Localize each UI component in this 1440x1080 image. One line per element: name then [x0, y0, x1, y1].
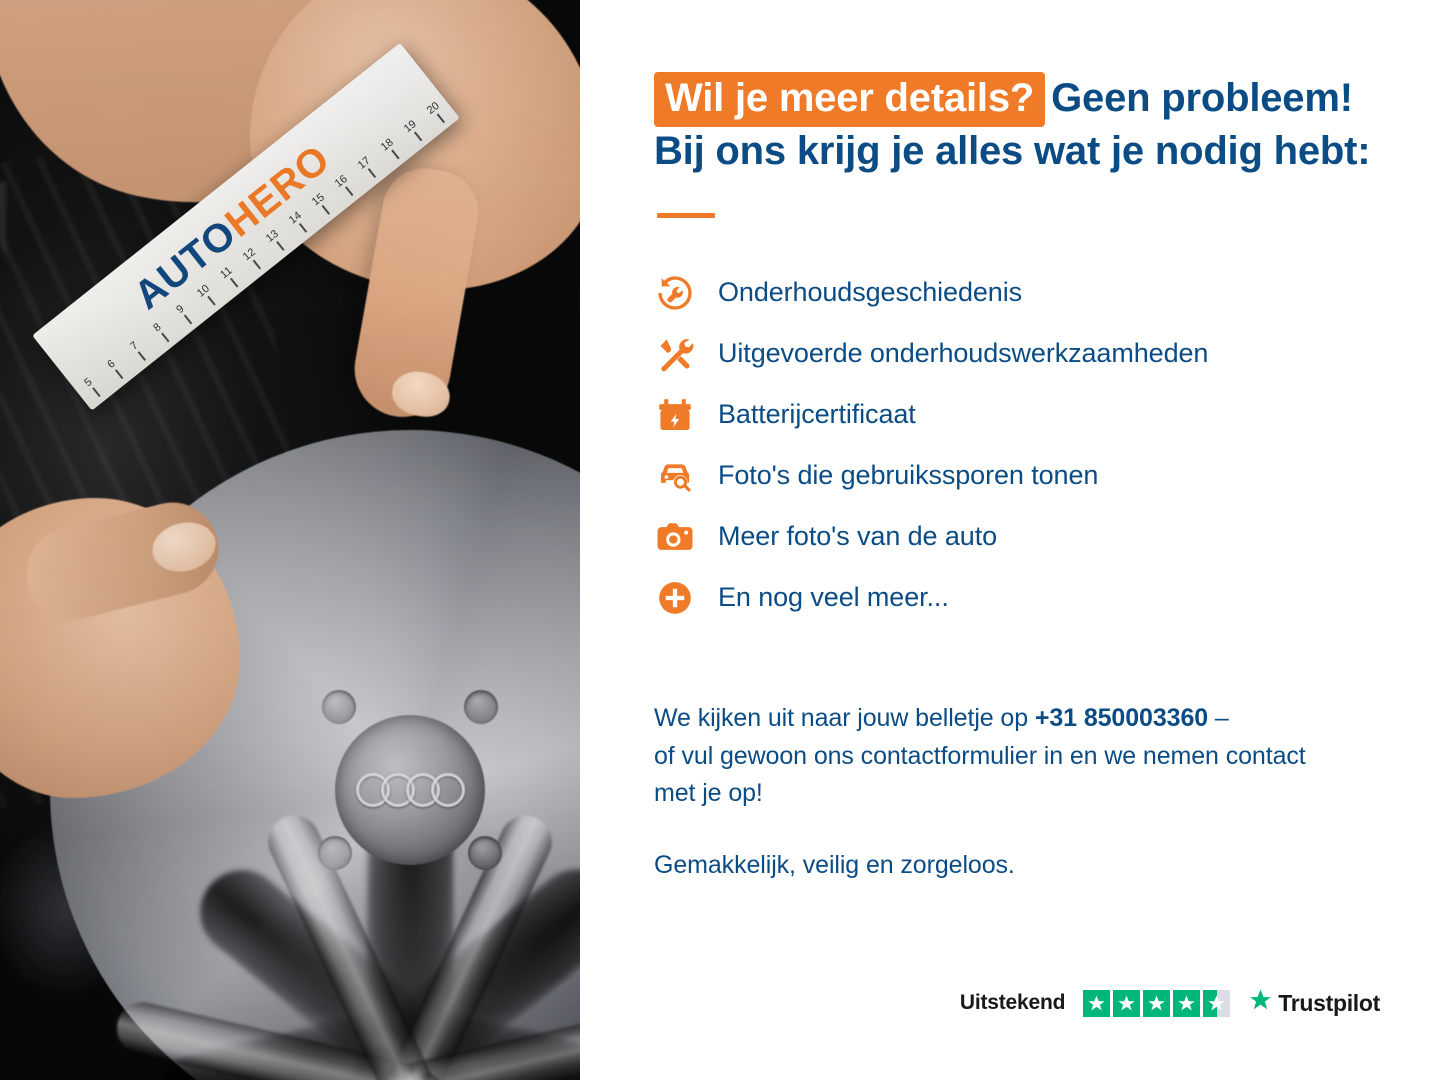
feature-item: Onderhoudsgeschiedenis	[654, 262, 1380, 323]
feature-list: Onderhoudsgeschiedenis Uitgevoerde onder…	[654, 262, 1380, 628]
feature-label: Onderhoudsgeschiedenis	[718, 277, 1022, 308]
page-title: Wil je meer details?Geen probleem! Bij o…	[654, 72, 1380, 175]
star-half	[1203, 990, 1230, 1017]
trustpilot-logo[interactable]: Trustpilot	[1248, 988, 1380, 1018]
contact-copy: We kijken uit naar jouw belletje op +31 …	[654, 700, 1380, 884]
battery-icon	[654, 394, 696, 436]
feature-label: Batterijcertificaat	[718, 399, 916, 430]
contact-line1-after: –	[1208, 704, 1229, 732]
tools-icon	[654, 333, 696, 375]
headline-highlight: Wil je meer details?	[654, 72, 1045, 127]
trust-stars	[1083, 990, 1230, 1017]
star-full	[1113, 990, 1140, 1017]
feature-label: Foto's die gebruikssporen tonen	[718, 460, 1098, 491]
content-panel: Wil je meer details?Geen probleem! Bij o…	[580, 0, 1440, 1080]
plus-circle-icon	[654, 577, 696, 619]
star-full	[1083, 990, 1110, 1017]
trustpilot-star-icon	[1248, 988, 1273, 1018]
maintenance-history-icon	[654, 272, 696, 314]
star-full	[1173, 990, 1200, 1017]
feature-label: Meer foto's van de auto	[718, 521, 997, 552]
contact-line3: met je op!	[654, 779, 763, 807]
feature-item: En nog veel meer...	[654, 567, 1380, 628]
trust-rating-word: Uitstekend	[960, 991, 1065, 1015]
reassurance-line: Gemakkelijk, veilig en zorgeloos.	[654, 847, 1380, 885]
feature-item: Foto's die gebruikssporen tonen	[654, 445, 1380, 506]
orange-divider	[657, 213, 715, 218]
feature-item: Batterijcertificaat	[654, 384, 1380, 445]
trustpilot-rating[interactable]: Uitstekend Trustpilot	[960, 988, 1380, 1018]
contact-line2: of vul gewoon ons contactformulier in en…	[654, 742, 1306, 770]
feature-item: Meer foto's van de auto	[654, 506, 1380, 567]
feature-label: En nog veel meer...	[718, 582, 949, 613]
headline-line2: Bij ons krijg je alles wat je nodig hebt…	[654, 129, 1370, 173]
car-inspection-icon	[654, 455, 696, 497]
star-full	[1143, 990, 1170, 1017]
feature-item: Uitgevoerde onderhoudswerkzaamheden	[654, 323, 1380, 384]
trustpilot-wordmark: Trustpilot	[1278, 990, 1380, 1017]
hero-photo: AUTOHERO 567891011121314151617181920	[0, 0, 580, 1080]
audi-rings-emblem	[352, 773, 468, 807]
camera-icon	[654, 516, 696, 558]
phone-number[interactable]: +31 850003360	[1035, 704, 1208, 732]
wheel-hub-cap	[335, 715, 485, 865]
feature-label: Uitgevoerde onderhoudswerkzaamheden	[718, 338, 1208, 369]
contact-line1-before: We kijken uit naar jouw belletje op	[654, 704, 1035, 732]
headline-rest: Geen probleem!	[1051, 76, 1353, 120]
promo-banner: AUTOHERO 567891011121314151617181920 Wil…	[0, 0, 1440, 1080]
